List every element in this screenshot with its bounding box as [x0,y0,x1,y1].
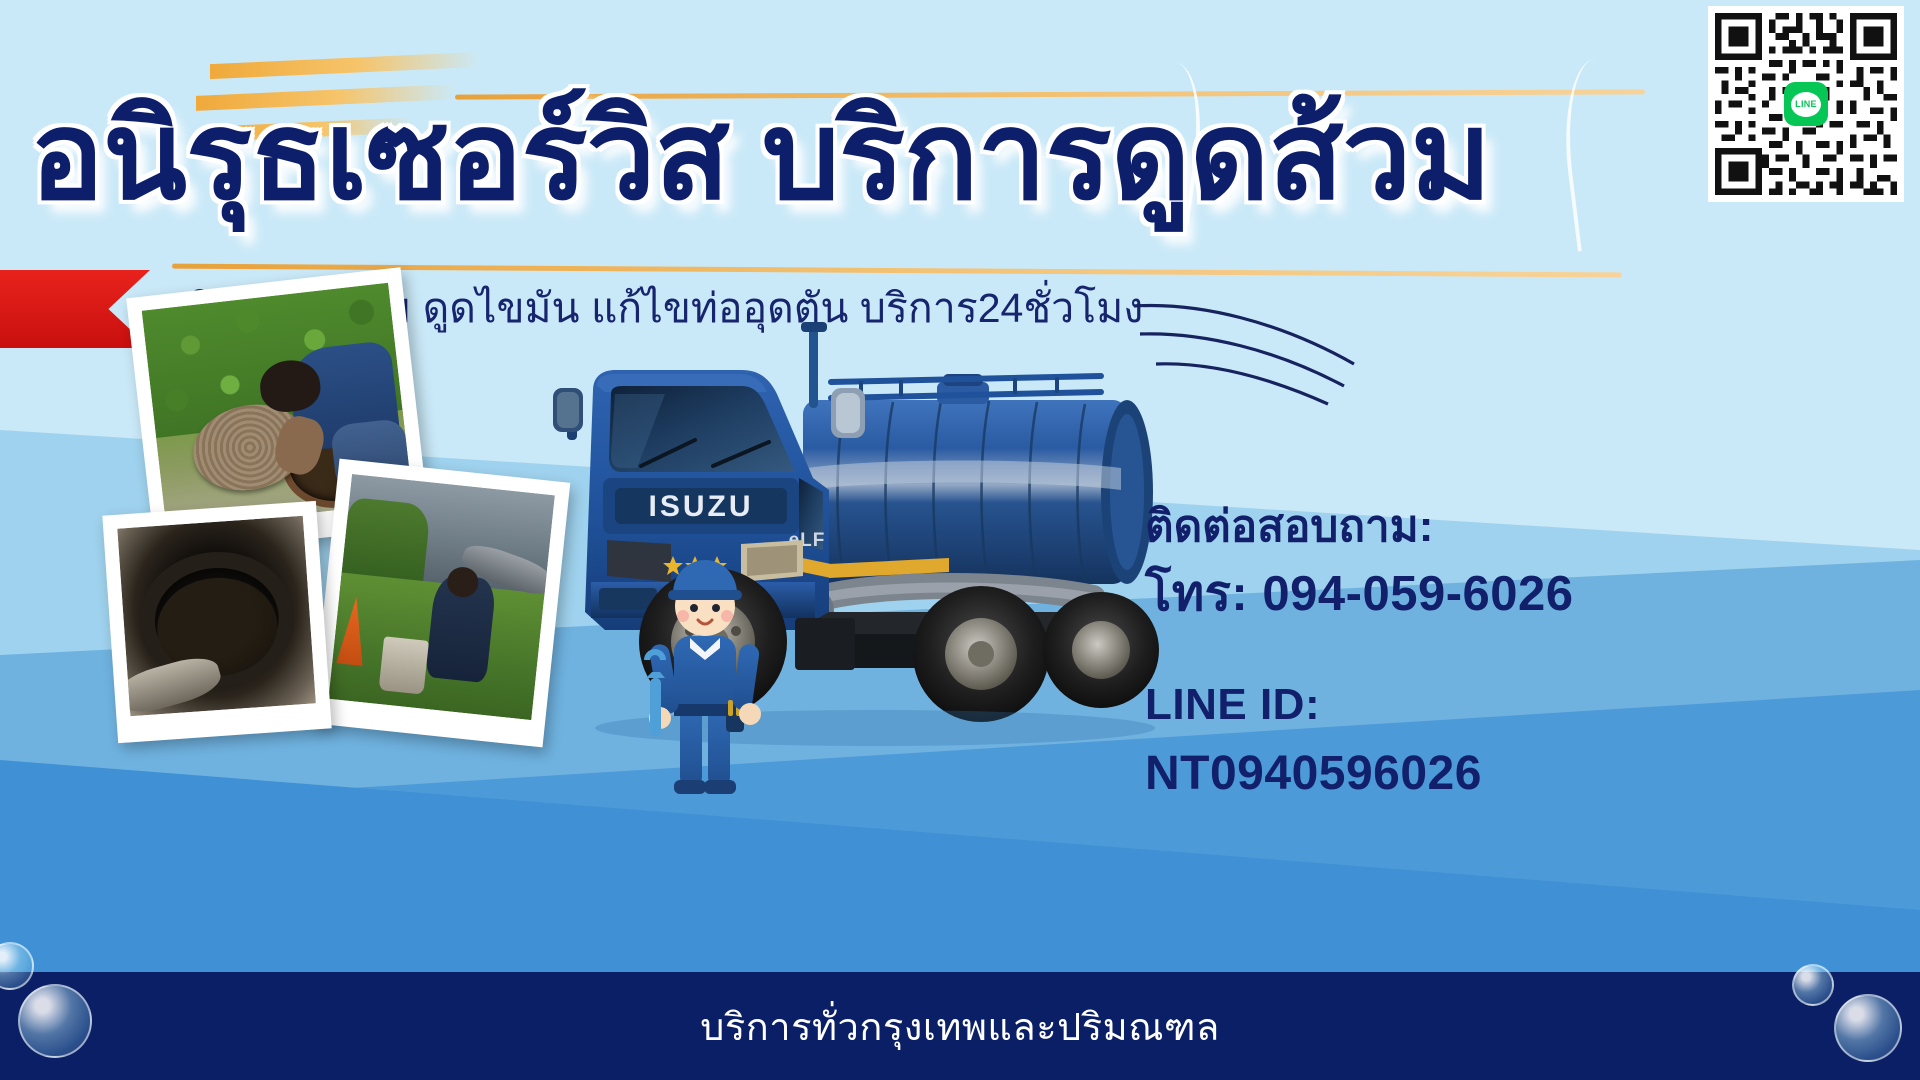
banner-canvas: อนิรุธเซอร์วิส บริการดูดส้วม บริการดูดส้… [0,0,1920,1080]
list-item [102,501,331,743]
contact-block: ติดต่อสอบถาม: โทร: 094-059-6026 [1145,495,1905,630]
line-id-block: LINE ID: NT0940596026 [1145,672,1905,810]
bubble-decoration [1792,964,1834,1006]
list-item [312,459,571,748]
coverage-text: บริการทั่วกรุงเทพและปริมณฑล [700,996,1220,1057]
bubble-decoration [1834,994,1902,1062]
photo-septic-tank-interior [117,516,316,717]
line-logo-badge: LINE [1784,82,1828,126]
line-id-label: LINE ID: [1145,672,1905,738]
line-badge-label: LINE [1791,92,1821,117]
truck-make-badge: ISUZU [649,490,754,523]
truck-rear-wheel-second [1043,592,1159,708]
photo-worker-suction-hose-on-grass [328,474,555,720]
line-qr-code[interactable]: LINE [1708,6,1904,202]
contact-phone[interactable]: โทร: 094-059-6026 [1145,559,1905,630]
contact-enquiry-label: ติดต่อสอบถาม: [1145,495,1905,559]
truck-mirror-left [553,388,583,440]
worker-mascot [640,528,770,798]
truck-mirror-right [831,388,865,438]
truck-rear-wheel [913,586,1049,722]
bubble-decoration [18,984,92,1058]
footer-bar: บริการทั่วกรุงเทพและปริมณฑล [0,972,1920,1080]
mascot-leg-left [680,708,702,786]
mascot-cap [673,560,737,594]
line-id-value[interactable]: NT0940596026 [1145,738,1905,810]
bucket [378,636,428,695]
page-title: อนิรุธเซอร์วิส บริการดูดส้วม [30,95,1590,218]
